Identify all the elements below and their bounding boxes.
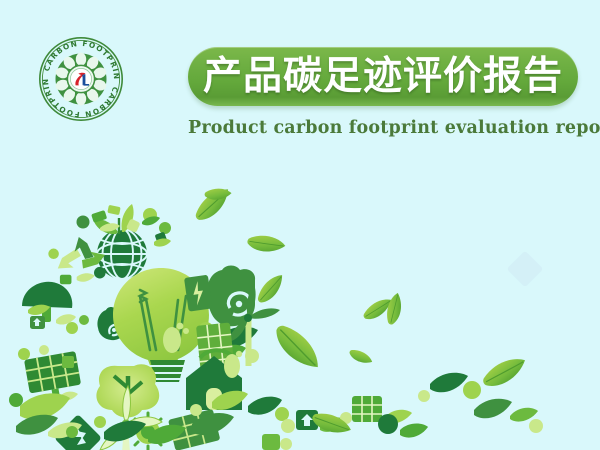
battery-icon [184,275,212,312]
cover-header: CARBON FOOTPRINT · CARBON FOOTPRINT · [0,0,600,160]
report-title-banner: 产品碳足迹评价报告 [188,47,578,106]
carbon-footprint-seal-logo: CARBON FOOTPRINT · CARBON FOOTPRINT · [38,36,124,122]
seal-petal-group [54,53,107,106]
page-title: 产品碳足迹评价报告 [203,57,563,96]
report-subtitle: Product carbon footprint evaluation repo… [188,118,578,138]
recycle-icon [48,237,105,284]
leaf-cluster-bottom-left [9,393,82,438]
icon-speck-group-left [30,314,89,334]
seal-icon: CARBON FOOTPRINT · CARBON FOOTPRINT · [38,36,124,122]
eco-collage-svg [0,170,600,450]
eco-footprint-artwork [0,170,600,450]
report-cover-page: CARBON FOOTPRINT · CARBON FOOTPRINT · [0,0,600,450]
